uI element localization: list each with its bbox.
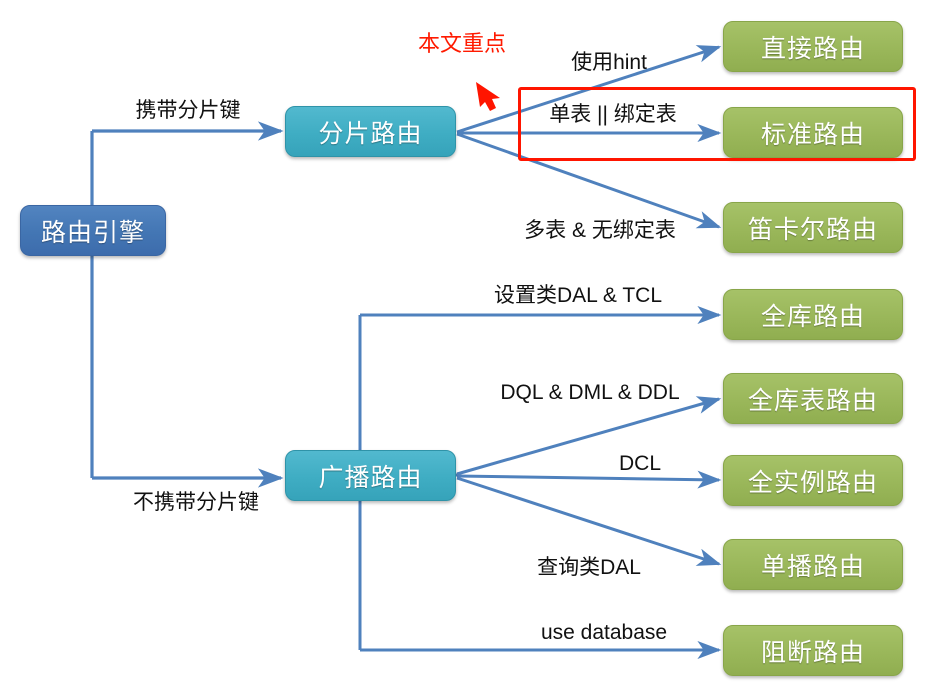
node-direct-routing-label: 直接路由 (761, 29, 865, 65)
node-broadcast-routing-label: 广播路由 (318, 458, 422, 494)
node-block-routing[interactable]: 阻断路由 (723, 625, 903, 676)
node-broadcast-routing[interactable]: 广播路由 (285, 450, 456, 501)
node-cartesian-routing-label: 笛卡尔路由 (748, 210, 878, 246)
edge-label-shard-to-standard: 单表 || 绑定表 (549, 98, 677, 128)
edge-label-broadcast-to-all-db-table: DQL & DML & DDL (500, 381, 679, 405)
node-unicast-routing[interactable]: 单播路由 (723, 539, 903, 590)
node-shard-routing-label: 分片路由 (318, 114, 422, 150)
emphasis-annotation-label: 本文重点 (418, 26, 506, 58)
diagram-canvas: 路由引擎 分片路由 广播路由 直接路由 标准路由 笛卡尔路由 全库路由 全库表路… (0, 0, 931, 697)
node-all-database-table-routing-label: 全库表路由 (748, 381, 878, 417)
node-routing-engine-label: 路由引擎 (41, 213, 145, 249)
edge-label-broadcast-to-unicast: 查询类DAL (537, 551, 641, 581)
node-all-database-routing[interactable]: 全库路由 (723, 289, 903, 340)
node-direct-routing[interactable]: 直接路由 (723, 21, 903, 72)
edge-label-broadcast-to-all-db: 设置类DAL & TCL (494, 279, 662, 309)
edge-label-root-to-shard: 携带分片键 (136, 94, 241, 124)
node-unicast-routing-label: 单播路由 (761, 547, 865, 583)
edge-label-shard-to-direct: 使用hint (571, 46, 647, 76)
edge-label-broadcast-to-all-instance: DCL (619, 452, 661, 476)
node-routing-engine[interactable]: 路由引擎 (20, 205, 166, 256)
red-arrow-icon (476, 82, 500, 111)
edge-broadcast-to-all-instance (457, 476, 719, 480)
node-block-routing-label: 阻断路由 (761, 633, 865, 669)
node-all-instance-routing[interactable]: 全实例路由 (723, 455, 903, 506)
node-cartesian-routing[interactable]: 笛卡尔路由 (723, 202, 903, 253)
edge-label-broadcast-to-block: use database (541, 621, 667, 645)
node-all-database-table-routing[interactable]: 全库表路由 (723, 373, 903, 424)
edge-label-root-to-broadcast: 不携带分片键 (133, 486, 259, 516)
edge-label-shard-to-cartesian: 多表 & 无绑定表 (524, 214, 676, 244)
node-all-database-routing-label: 全库路由 (761, 297, 865, 333)
node-all-instance-routing-label: 全实例路由 (748, 463, 878, 499)
edge-broadcast-to-all-db-table (457, 399, 719, 474)
node-shard-routing[interactable]: 分片路由 (285, 106, 456, 157)
